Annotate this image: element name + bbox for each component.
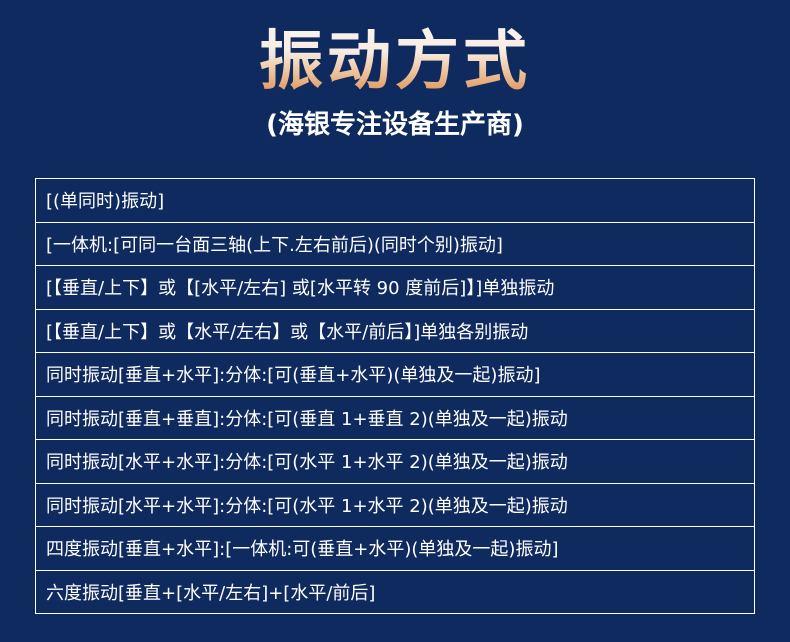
table-cell-mode: [【垂直/上下】或【[水平/左右] 或[水平转 90 度前后]】]单独振动 (36, 266, 755, 310)
vibration-modes-table-container: [(单同时)振动] [一体机:[可同一台面三轴(上下.左右前后)(同时个别)振动… (35, 178, 755, 614)
vibration-modes-table: [(单同时)振动] [一体机:[可同一台面三轴(上下.左右前后)(同时个别)振动… (35, 178, 755, 614)
table-cell-mode: [(单同时)振动] (36, 179, 755, 223)
table-body: [(单同时)振动] [一体机:[可同一台面三轴(上下.左右前后)(同时个别)振动… (36, 179, 755, 614)
poster-header: 振动方式 (海银专注设备生产商) (0, 0, 790, 141)
table-cell-mode: [一体机:[可同一台面三轴(上下.左右前后)(同时个别)振动] (36, 222, 755, 266)
table-row: 四度振动[垂直+水平]:[一体机:可(垂直+水平)(单独及一起)振动] (36, 527, 755, 571)
table-row: 同时振动[垂直+垂直]:分体:[可(垂直 1+垂直 2)(单独及一起)振动 (36, 396, 755, 440)
page-title: 振动方式 (0, 26, 790, 100)
table-cell-mode: 四度振动[垂直+水平]:[一体机:可(垂直+水平)(单独及一起)振动] (36, 527, 755, 571)
table-cell-mode: 同时振动[水平+水平]:分体:[可(水平 1+水平 2)(单独及一起)振动 (36, 483, 755, 527)
table-cell-mode: 同时振动[垂直+垂直]:分体:[可(垂直 1+垂直 2)(单独及一起)振动 (36, 396, 755, 440)
table-cell-mode: 同时振动[垂直+水平]:分体:[可(垂直+水平)(单独及一起)振动] (36, 353, 755, 397)
table-row: 同时振动[水平+水平]:分体:[可(水平 1+水平 2)(单独及一起)振动 (36, 440, 755, 484)
table-row: [【垂直/上下】或【水平/左右】或【水平/前后】]单独各别振动 (36, 309, 755, 353)
table-cell-mode: 同时振动[水平+水平]:分体:[可(水平 1+水平 2)(单独及一起)振动 (36, 440, 755, 484)
page-subtitle: (海银专注设备生产商) (0, 104, 790, 141)
table-row: [【垂直/上下】或【[水平/左右] 或[水平转 90 度前后]】]单独振动 (36, 266, 755, 310)
table-cell-mode: [【垂直/上下】或【水平/左右】或【水平/前后】]单独各别振动 (36, 309, 755, 353)
table-row: 同时振动[水平+水平]:分体:[可(水平 1+水平 2)(单独及一起)振动 (36, 483, 755, 527)
table-row: 同时振动[垂直+水平]:分体:[可(垂直+水平)(单独及一起)振动] (36, 353, 755, 397)
table-row: 六度振动[垂直+[水平/左右]+[水平/前后] (36, 570, 755, 614)
table-row: [一体机:[可同一台面三轴(上下.左右前后)(同时个别)振动] (36, 222, 755, 266)
poster-page: 振动方式 (海银专注设备生产商) [(单同时)振动] [一体机:[可同一台面三轴… (0, 0, 790, 642)
table-row: [(单同时)振动] (36, 179, 755, 223)
table-cell-mode: 六度振动[垂直+[水平/左右]+[水平/前后] (36, 570, 755, 614)
